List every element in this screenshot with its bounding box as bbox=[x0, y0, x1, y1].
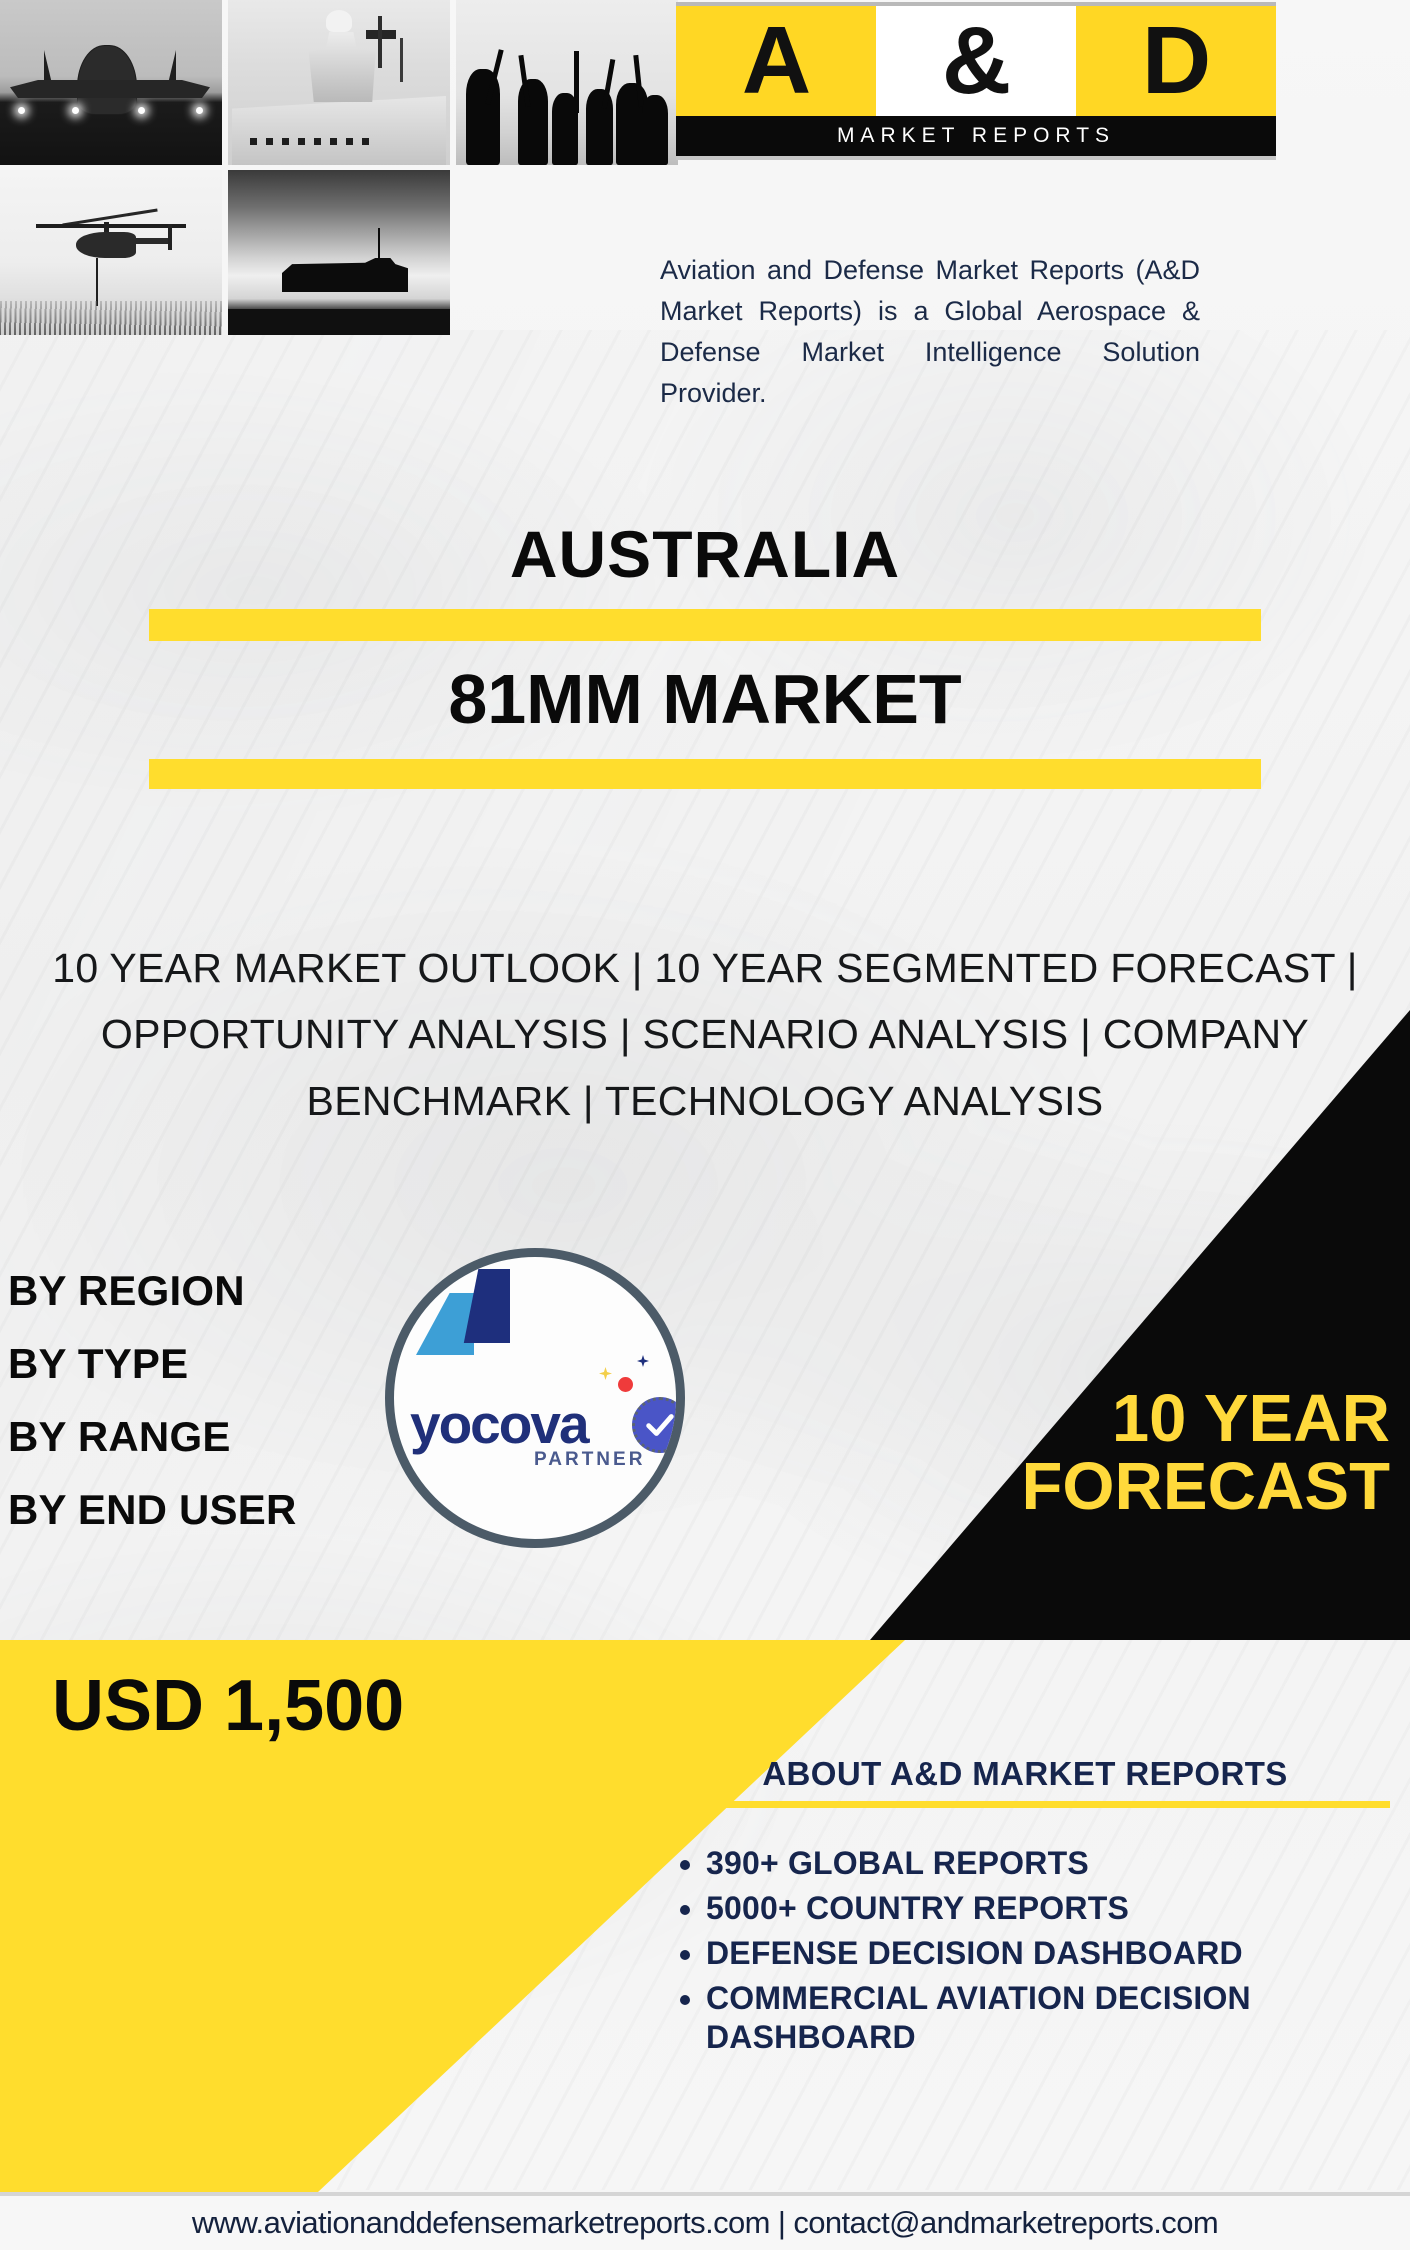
about-bullet-defense-dashboard: DEFENSE DECISION DASHBOARD bbox=[706, 1934, 1390, 1973]
soldier bbox=[642, 95, 668, 165]
segmentation-list: BY REGION BY TYPE BY RANGE BY END USER bbox=[8, 1270, 428, 1562]
deck-light bbox=[72, 107, 79, 114]
photo-military-helicopter bbox=[0, 170, 222, 335]
rifle bbox=[574, 51, 579, 113]
heli-fast-rope bbox=[96, 258, 98, 306]
segment-item-region: BY REGION bbox=[8, 1270, 428, 1312]
yocova-partner-badge: yocova PARTNER bbox=[385, 1248, 685, 1548]
photo-soldiers-silhouette bbox=[456, 0, 678, 165]
forecast-line-1: 10 YEAR bbox=[750, 1385, 1390, 1453]
photo-fighter-jet-on-carrier-deck bbox=[0, 0, 222, 165]
footer-contact-text: www.aviationanddefensemarketreports.com … bbox=[192, 2205, 1218, 2241]
ship-mast-secondary bbox=[400, 38, 403, 82]
yocova-wordmark: yocova bbox=[410, 1397, 620, 1452]
segment-item-end-user: BY END USER bbox=[8, 1489, 428, 1531]
ship-mast bbox=[378, 16, 382, 68]
title-rule-bottom bbox=[149, 759, 1261, 789]
title-rule-top bbox=[149, 609, 1261, 641]
deck-light bbox=[18, 107, 25, 114]
about-heading: ABOUT A&D MARKET REPORTS bbox=[660, 1755, 1390, 1793]
logo-cell-a: A bbox=[676, 6, 876, 116]
logo-cell-ampersand: & bbox=[876, 6, 1076, 116]
soldier bbox=[518, 79, 548, 165]
ship-hull bbox=[232, 96, 446, 165]
deck-light bbox=[138, 107, 145, 114]
segment-item-range: BY RANGE bbox=[8, 1416, 428, 1458]
company-description: Aviation and Defense Market Reports (A&D… bbox=[660, 250, 1200, 414]
page-title-market: 81MM MARKET bbox=[0, 663, 1410, 737]
about-bullet-list: 390+ GLOBAL REPORTS 5000+ COUNTRY REPORT… bbox=[706, 1844, 1390, 2057]
jet-tail-left bbox=[44, 50, 60, 94]
yocova-partner-label: PARTNER bbox=[534, 1449, 654, 1471]
report-cover-poster: A & D MARKET REPORTS Aviation and Defens… bbox=[0, 0, 1410, 2250]
ground-line bbox=[228, 309, 450, 335]
about-bullet-global-reports: 390+ GLOBAL REPORTS bbox=[706, 1844, 1390, 1883]
jet-tail-right bbox=[160, 50, 176, 94]
price-label: USD 1,500 bbox=[52, 1665, 612, 1747]
logo-letter-a: A bbox=[742, 13, 810, 109]
ship-radome bbox=[326, 10, 352, 32]
sparkle-navy-icon bbox=[637, 1355, 649, 1367]
sparkle-yellow-icon bbox=[599, 1367, 612, 1380]
logo-subtitle-bar: MARKET REPORTS bbox=[676, 116, 1276, 156]
title-block: AUSTRALIA 81MM MARKET bbox=[0, 520, 1410, 789]
page-title-country: AUSTRALIA bbox=[0, 520, 1410, 589]
heli-tail-rotor bbox=[168, 224, 172, 250]
logo-letters-row: A & D bbox=[676, 6, 1276, 116]
logo-cell-d: D bbox=[1076, 6, 1276, 116]
ad-market-reports-logo: A & D MARKET REPORTS bbox=[676, 2, 1276, 157]
footer-bar: www.aviationanddefensemarketreports.com … bbox=[0, 2196, 1410, 2250]
heli-tail-boom bbox=[126, 238, 172, 244]
logo-subtitle-text: MARKET REPORTS bbox=[837, 124, 1115, 148]
check-badge-icon bbox=[632, 1397, 685, 1453]
forecast-callout: 10 YEAR FORECAST bbox=[750, 1385, 1390, 1522]
about-bullet-commercial-dashboard: COMMERCIAL AVIATION DECISION DASHBOARD bbox=[706, 1979, 1390, 2057]
logo-letter-d: D bbox=[1142, 13, 1210, 109]
about-bullet-country-reports: 5000+ COUNTRY REPORTS bbox=[706, 1889, 1390, 1928]
field-grass bbox=[0, 301, 222, 335]
dot-red-icon bbox=[618, 1377, 633, 1392]
photo-naval-warship bbox=[228, 0, 450, 165]
about-heading-underline bbox=[660, 1801, 1390, 1808]
armored-vehicle bbox=[282, 258, 408, 292]
photo-armored-vehicle-at-dusk bbox=[228, 170, 450, 335]
segment-item-type: BY TYPE bbox=[8, 1343, 428, 1385]
deck-light bbox=[196, 107, 203, 114]
heli-rotor-blade bbox=[36, 224, 186, 228]
feature-list-text: 10 YEAR MARKET OUTLOOK | 10 YEAR SEGMENT… bbox=[30, 935, 1380, 1134]
logo-letter-ampersand: & bbox=[942, 13, 1010, 109]
about-section: ABOUT A&D MARKET REPORTS 390+ GLOBAL REP… bbox=[660, 1755, 1390, 2063]
yocova-mark-light-triangle-icon bbox=[416, 1293, 474, 1355]
soldier bbox=[586, 89, 613, 165]
logo-bottom-rule bbox=[676, 156, 1276, 160]
forecast-line-2: FORECAST bbox=[750, 1453, 1390, 1521]
heli-fuselage bbox=[76, 232, 136, 258]
vehicle-antenna bbox=[378, 228, 380, 262]
